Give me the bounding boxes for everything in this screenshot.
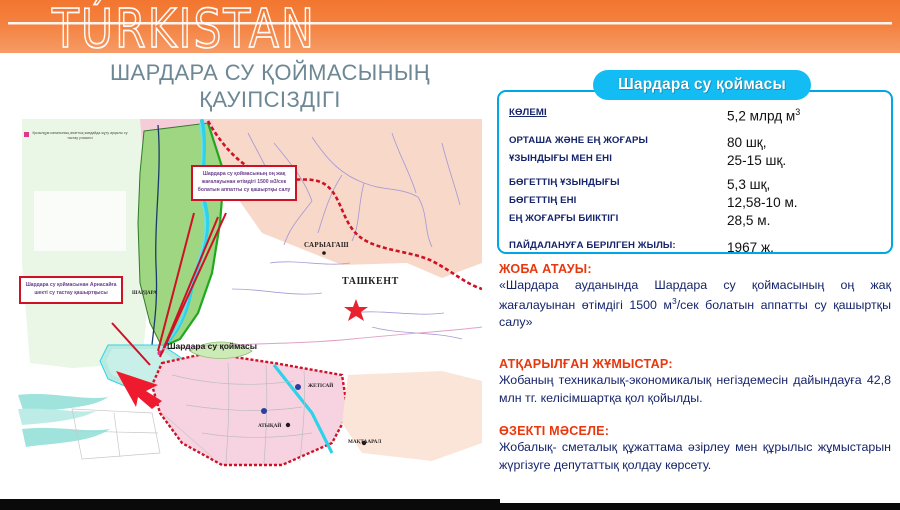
spec-value: 25-15 шқ. [727, 152, 883, 170]
section-body: Жобаның техникалық-экономикалық негіздем… [499, 372, 891, 407]
spacer-row [509, 231, 883, 239]
spec-key: КӨЛЕМІ [509, 106, 727, 126]
section-body: «Шардара ауданында Шардара су қоймасының… [499, 277, 891, 332]
table-row: КӨЛЕМІ 5,2 млрд м3 [509, 106, 883, 126]
section-heading: ӨЗЕКТІ МӘСЕЛЕ: [499, 424, 891, 438]
spec-key: ҰЗЫНДЫҒЫ МЕН ЕНІ [509, 152, 727, 170]
table-row: БӨГЕТТІҢ ҰЗЫНДЫҒЫ 5,3 шқ, [509, 176, 883, 194]
spec-key: ОРТАША ЖӘНЕ ЕҢ ЖОҒАРЫ [509, 134, 727, 152]
table-row: ҰЗЫНДЫҒЫ МЕН ЕНІ 25-15 шқ. [509, 152, 883, 170]
table-row: ПАЙДАЛАНУҒА БЕРІЛГЕН ЖЫЛЫ: 1967 ж. [509, 239, 883, 257]
map-legend: Қызылқұм каналының апаттық жағдайда жұту… [24, 131, 128, 142]
spec-value: 12,58-10 м. [727, 194, 883, 212]
section-completed-works: АТҚАРЫЛҒАН ЖҰМЫСТАР: Жобаның техникалық-… [499, 357, 891, 407]
table-row: ОРТАША ЖӘНЕ ЕҢ ЖОҒАРЫ 80 шқ, [509, 134, 883, 152]
legend-swatch-icon [24, 132, 29, 137]
table-row: БӨГЕТТІҢ ЕНІ 12,58-10 м. [509, 194, 883, 212]
spec-table-body: КӨЛЕМІ 5,2 млрд м3 ОРТАША ЖӘНЕ ЕҢ ЖОҒАРЫ… [509, 106, 883, 257]
panel-title-text: Шардара су қоймасы [618, 76, 786, 94]
map-callout-right-bank: Шардара су қоймасының оң жақ жағалауынан… [191, 165, 297, 201]
section-heading: АТҚАРЫЛҒАН ЖҰМЫСТАР: [499, 357, 891, 371]
spec-key: ЕҢ ЖОҒАРҒЫ БИІКТІГІ [509, 212, 727, 230]
brand-logo-turkistan: TÚRKISTAN [52, 0, 316, 53]
page-title: ШАРДАРА СУ ҚОЙМАСЫНЫҢҚАУІПСІЗДІГІ [60, 60, 480, 114]
spec-value: 5,2 млрд м3 [727, 106, 883, 126]
reservoir-spec-table: КӨЛЕМІ 5,2 млрд м3 ОРТАША ЖӘНЕ ЕҢ ЖОҒАРЫ… [509, 106, 883, 257]
region-map: Қызылқұм каналының апаттық жағдайда жұту… [12, 113, 482, 491]
superscript: 3 [795, 107, 800, 117]
spacer-row [509, 126, 883, 134]
table-row: ЕҢ ЖОҒАРҒЫ БИІКТІГІ 28,5 м. [509, 212, 883, 230]
header-banner: TÚRKISTAN [0, 0, 900, 53]
spec-value: 1967 ж. [727, 239, 883, 257]
section-body: Жобалық- сметалық құжаттама әзірлеу мен … [499, 439, 891, 474]
bottom-bar [0, 503, 900, 510]
map-callout-arnasay: Шардара су қоймасынан Арнасайға шекті су… [19, 276, 123, 304]
legend-label: Қызылқұм каналының апаттық жағдайда жұту… [32, 131, 128, 142]
section-current-issue: ӨЗЕКТІ МӘСЕЛЕ: Жобалық- сметалық құжатта… [499, 424, 891, 474]
spec-value: 28,5 м. [727, 212, 883, 230]
spec-key: ПАЙДАЛАНУҒА БЕРІЛГЕН ЖЫЛЫ: [509, 239, 727, 257]
spec-value: 5,3 шқ, [727, 176, 883, 194]
spec-key: БӨГЕТТІҢ ЕНІ [509, 194, 727, 212]
panel-title-pill: Шардара су қоймасы [593, 70, 811, 100]
spec-key: БӨГЕТТІҢ ҰЗЫНДЫҒЫ [509, 176, 727, 194]
section-heading: ЖОБА АТАУЫ: [499, 262, 891, 276]
section-project-name: ЖОБА АТАУЫ: «Шардара ауданында Шардара с… [499, 262, 891, 332]
spec-value: 80 шқ, [727, 134, 883, 152]
